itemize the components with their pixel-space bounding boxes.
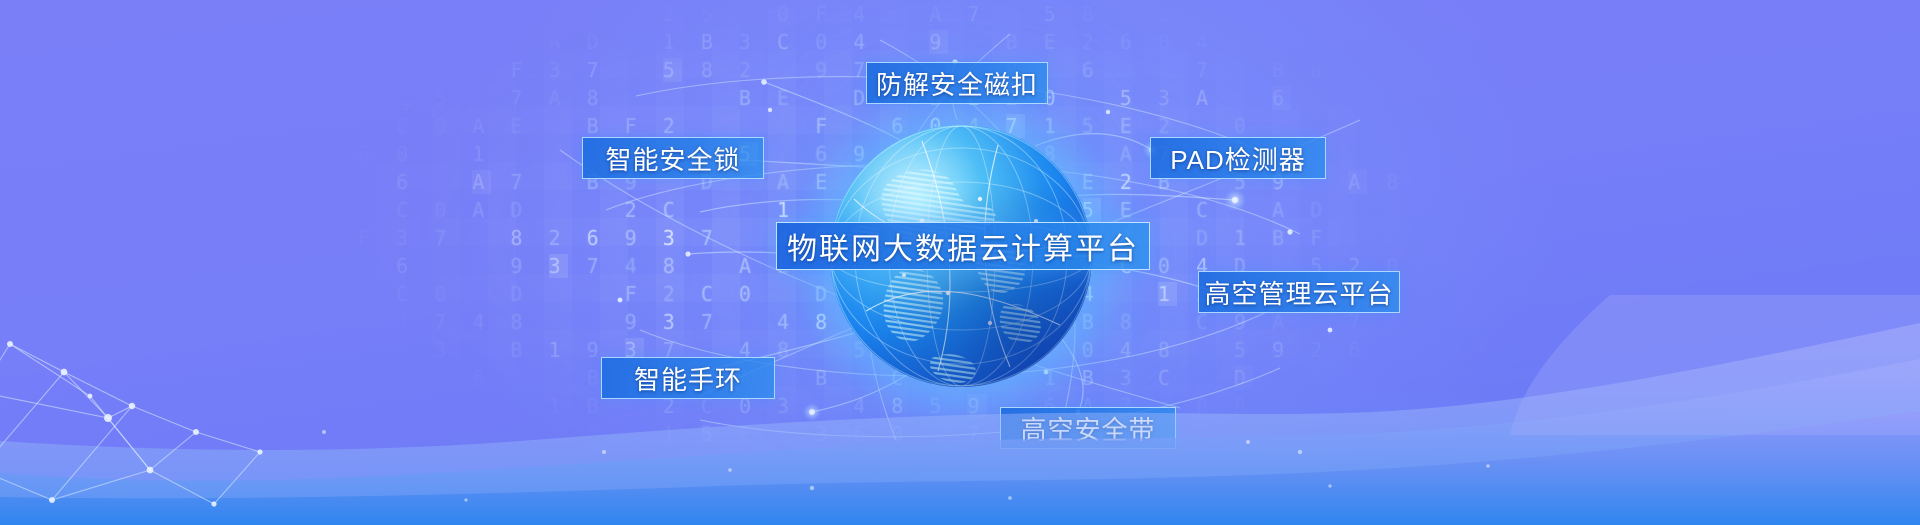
label-pad-detector[interactable]: PAD检测器 (1150, 137, 1326, 179)
label-magnetic-buckle[interactable]: 防解安全磁扣 (866, 62, 1048, 104)
label-text: 高空安全带 (1020, 410, 1155, 447)
label-text: 智能手环 (634, 360, 742, 397)
label-text: 智能安全锁 (605, 140, 740, 177)
iot-platform-banner: 9 D A 1 B 4 E 2 5 0 F 4 A 7 5 8 2 C B 9 … (0, 0, 1920, 525)
matrix-row: 5 F C 0 A D 1 B 3 C 0 4 9 B E 2 6 0 4 8 … (320, 28, 1460, 56)
matrix-row: 8 6 A 7 B 8 D 1 B F 3 4 8 5 1 5 2 9 3 7 (320, 448, 1460, 470)
label-smart-band[interactable]: 智能手环 (601, 357, 775, 399)
label-center-platform[interactable]: 物联网大数据云计算平台 (776, 222, 1150, 270)
center-label-text: 物联网大数据云计算平台 (787, 224, 1139, 268)
label-text: PAD检测器 (1170, 140, 1306, 177)
label-safety-harness[interactable]: 高空安全带 (1000, 407, 1176, 449)
label-text: 高空管理云平台 (1204, 274, 1393, 311)
matrix-row: 9 D A 1 B 4 E 2 5 0 F 4 A 7 5 8 2 C B 9 (320, 0, 1460, 28)
label-altitude-cloud-platform[interactable]: 高空管理云平台 (1198, 271, 1400, 313)
matrix-row: 5 3 6 0 4 8 2 1 5 E 3 6 0 7 1 5 E 2 C 0 … (320, 420, 1460, 448)
label-text: 防解安全磁扣 (876, 65, 1038, 102)
label-smart-lock[interactable]: 智能安全锁 (582, 137, 764, 179)
